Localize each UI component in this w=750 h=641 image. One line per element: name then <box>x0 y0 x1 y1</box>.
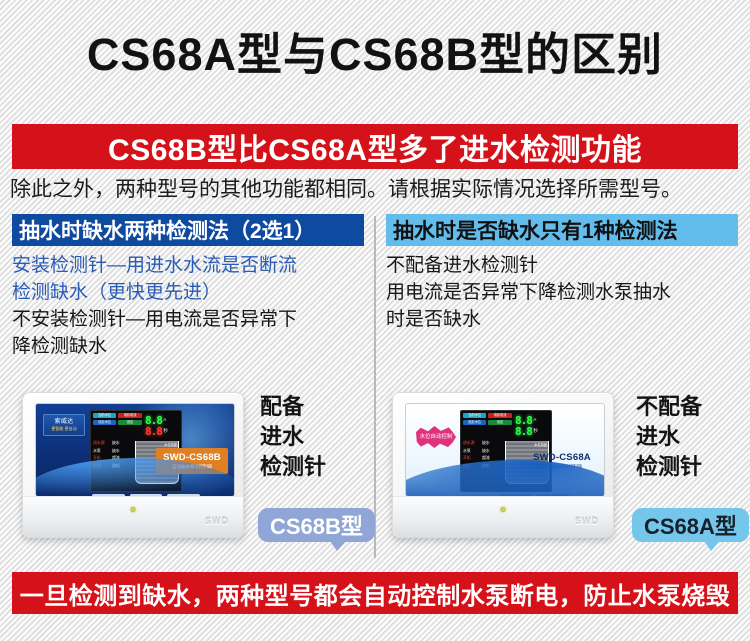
lcd-tag-current-level-a: 当前水位 <box>463 413 486 418</box>
subnote-text: 除此之外，两种型号的其他功能都相同。请根据实际情况选择所需型号。 <box>10 176 744 204</box>
lcd-labels-a: 电机电流 设定 <box>488 413 512 439</box>
device-image-cs68a: 水位自动控制 当前水位 设定水位 电机电流 设定 8. <box>392 392 614 538</box>
highlight-banner-top: CS68B型比CS68A型多了进水检测功能 <box>12 124 738 169</box>
column-header-a-label: 抽水时是否缺水只有1种检测法 <box>393 215 678 245</box>
lcd-status-area-a: 进水源 缺水 水泵 缺水 开机 超流 <box>461 439 551 484</box>
device-image-cs68b: 索威达 更智能·更自动 当前水位 设定水位 电机电流 设定 <box>22 392 244 538</box>
controller-lower-shell-a: SWD <box>393 496 613 537</box>
column-header-b-label: 抽水时缺水两种检测法（2选1） <box>19 215 315 245</box>
column-a-line-2: 用电流是否异常下降检测水泵抽水 <box>386 279 738 306</box>
lcd-digit-row-bottom-b: 8.8 秒 <box>145 426 179 437</box>
lcd-tag-set-level-a: 设定水位 <box>463 420 486 425</box>
highlight-banner-bottom-text: 一旦检测到缺水，两种型号都会自动控制水泵断电，防止水泵烧毁 <box>20 576 731 611</box>
highlight-banner-bottom: 一旦检测到缺水，两种型号都会自动控制水泵断电，防止水泵烧毁 <box>12 572 738 614</box>
lcd-status-val-4-a: 缺相 <box>482 463 490 469</box>
caption-cs68a: 不配备 进水 检测针 <box>636 392 702 482</box>
column-header-a: 抽水时是否缺水只有1种检测法 <box>386 214 738 246</box>
caption-cs68b-line-3: 检测针 <box>260 452 326 482</box>
lcd-value-set-b: 8.8 <box>145 426 162 437</box>
highlight-banner-top-text: CS68B型比CS68A型多了进水检测功能 <box>108 125 642 169</box>
lcd-top-row-a: 当前水位 设定水位 电机电流 设定 8.8 A <box>461 411 551 439</box>
lcd-tank-scale-a: 水位刻度 <box>534 443 547 447</box>
caption-cs68b: 配备 进水 检测针 <box>260 392 326 482</box>
controller-body-a: 水位自动控制 当前水位 设定水位 电机电流 设定 8. <box>392 392 614 538</box>
model-desc-b: 自动抽水/排水控制器 <box>172 465 212 469</box>
faceplate-b: 索威达 更智能·更自动 当前水位 设定水位 电机电流 设定 <box>35 403 235 497</box>
lcd-status-list-b: 进水源 缺水 水泵 缺水 开机 超流 <box>93 440 133 484</box>
lcd-status-key-3-a: 开机 <box>463 455 480 461</box>
lcd-status-row-3-a: 开机 超流 <box>463 455 503 461</box>
brand-name-b: 索威达 <box>55 419 74 425</box>
lcd-status-val-1-b: 缺水 <box>112 440 120 446</box>
model-bubble-cs68b-label: CS68B型 <box>270 509 363 541</box>
page-title: CS68A型与CS68B型的区别 <box>0 26 750 84</box>
lcd-tags-b: 当前水位 设定水位 <box>93 413 116 439</box>
swd-emboss-logo-b: SWD <box>205 516 229 526</box>
controller-body-b: 索威达 更智能·更自动 当前水位 设定水位 电机电流 设定 <box>22 392 244 538</box>
model-plate-b: SWD-CS68B 自动抽水/排水控制器 <box>156 448 228 474</box>
infographic-page: CS68A型与CS68B型的区别 CS68B型比CS68A型多了进水检测功能 除… <box>0 0 750 641</box>
caption-cs68a-line-1: 不配备 <box>636 392 702 422</box>
starburst-badge-a: 水位自动控制 <box>416 426 456 448</box>
lcd-status-row-4-b: 检测 缺相 <box>93 463 133 469</box>
model-desc-a: 自动抽水/排水控制器 <box>542 465 582 469</box>
lcd-tank-scale-b: 水位刻度 <box>164 443 177 447</box>
column-b-line-3: 不安装检测针—用电流是否异常下 <box>12 306 364 333</box>
model-plate-a: SWD-CS68A 自动抽水/排水控制器 <box>526 448 598 474</box>
column-b-line-1: 安装检测针—用进水水流是否断流 <box>12 252 364 279</box>
lcd-labels-b: 电机电流 设定 <box>118 413 142 439</box>
faceplate-a: 水位自动控制 当前水位 设定水位 电机电流 设定 8. <box>405 403 605 497</box>
lcd-value-set-a: 8.8 <box>515 426 532 437</box>
lcd-status-key-1-b: 进水源 <box>93 440 110 446</box>
model-bubble-cs68b: CS68B型 <box>258 508 375 542</box>
comparison-column-a: 抽水时是否缺水只有1种检测法 不配备进水检测针 用电流是否异常下降检测水泵抽水 … <box>386 214 738 333</box>
lcd-unit-sec-b: 秒 <box>163 429 168 434</box>
lcd-unit-amp-a: A <box>533 418 536 423</box>
column-a-line-3: 时是否缺水 <box>386 306 738 333</box>
lcd-status-val-4-b: 缺相 <box>112 463 120 469</box>
column-b-line-4: 降检测缺水 <box>12 333 364 360</box>
model-name-b: SWD-CS68B <box>163 453 221 463</box>
lcd-status-row-4-a: 关机 缺相 <box>463 463 503 469</box>
model-bubble-cs68a: CS68A型 <box>632 508 749 542</box>
swd-emboss-logo-a: SWD <box>575 516 599 526</box>
controller-lower-shell-b: SWD <box>23 496 243 537</box>
lcd-status-val-1-a: 缺水 <box>482 440 490 446</box>
power-led-icon-b <box>131 507 136 512</box>
caption-cs68b-line-2: 进水 <box>260 422 326 452</box>
lcd-digits-a: 8.8 A 8.8 秒 <box>514 413 549 439</box>
lcd-status-val-2-b: 缺水 <box>112 448 120 454</box>
lcd-status-key-1-a: 进水源 <box>463 440 480 446</box>
lcd-digit-row-bottom-a: 8.8 秒 <box>515 426 549 437</box>
column-body-b: 安装检测针—用进水水流是否断流 检测缺水（更快更先进） 不安装检测针—用电流是否… <box>12 246 364 360</box>
lcd-label-current-a: 电机电流 <box>488 413 512 418</box>
brand-slogan-b: 更智能·更自动 <box>51 427 76 431</box>
lcd-unit-amp-b: A <box>163 418 166 423</box>
lcd-top-row-b: 当前水位 设定水位 电机电流 设定 8.8 A <box>91 411 181 439</box>
lcd-tag-current-level-b: 当前水位 <box>93 413 116 418</box>
lcd-status-row-1-b: 进水源 缺水 <box>93 440 133 446</box>
model-name-a: SWD-CS68A <box>533 453 591 463</box>
lcd-status-val-3-a: 超流 <box>482 455 490 461</box>
column-b-line-2: 检测缺水（更快更先进） <box>12 279 364 306</box>
lcd-status-key-3-b: 开机 <box>93 455 110 461</box>
lcd-status-row-2-a: 水泵 缺水 <box>463 448 503 454</box>
lcd-digits-b: 8.8 A 8.8 秒 <box>144 413 179 439</box>
lcd-status-key-2-a: 水泵 <box>463 448 480 454</box>
lcd-tags-a: 当前水位 设定水位 <box>463 413 486 439</box>
caption-cs68a-line-2: 进水 <box>636 422 702 452</box>
lcd-label-current-b: 电机电流 <box>118 413 142 418</box>
lcd-status-key-4-b: 检测 <box>93 463 110 469</box>
column-header-b: 抽水时缺水两种检测法（2选1） <box>12 214 364 246</box>
lcd-label-set-a: 设定 <box>488 420 512 425</box>
lcd-label-set-b: 设定 <box>118 420 142 425</box>
lcd-status-list-a: 进水源 缺水 水泵 缺水 开机 超流 <box>463 440 503 484</box>
lcd-status-val-3-b: 超流 <box>112 455 120 461</box>
lcd-tag-set-level-b: 设定水位 <box>93 420 116 425</box>
lcd-status-area-b: 进水源 缺水 水泵 缺水 开机 超流 <box>91 439 181 484</box>
lcd-status-row-1-a: 进水源 缺水 <box>463 440 503 446</box>
comparison-column-b: 抽水时缺水两种检测法（2选1） 安装检测针—用进水水流是否断流 检测缺水（更快更… <box>12 214 364 360</box>
lcd-status-row-2-b: 水泵 缺水 <box>93 448 133 454</box>
brand-logo-b: 索威达 更智能·更自动 <box>43 414 85 436</box>
lcd-status-row-3-b: 开机 超流 <box>93 455 133 461</box>
column-divider <box>374 216 376 558</box>
caption-cs68a-line-3: 检测针 <box>636 452 702 482</box>
column-body-a: 不配备进水检测针 用电流是否异常下降检测水泵抽水 时是否缺水 <box>386 246 738 333</box>
column-a-line-1: 不配备进水检测针 <box>386 252 738 279</box>
lcd-unit-sec-a: 秒 <box>533 429 538 434</box>
lcd-status-val-2-a: 缺水 <box>482 448 490 454</box>
lcd-status-key-4-a: 关机 <box>463 463 480 469</box>
power-led-icon-a <box>501 507 506 512</box>
lcd-status-key-2-b: 水泵 <box>93 448 110 454</box>
caption-cs68b-line-1: 配备 <box>260 392 326 422</box>
model-bubble-cs68a-label: CS68A型 <box>644 509 737 541</box>
